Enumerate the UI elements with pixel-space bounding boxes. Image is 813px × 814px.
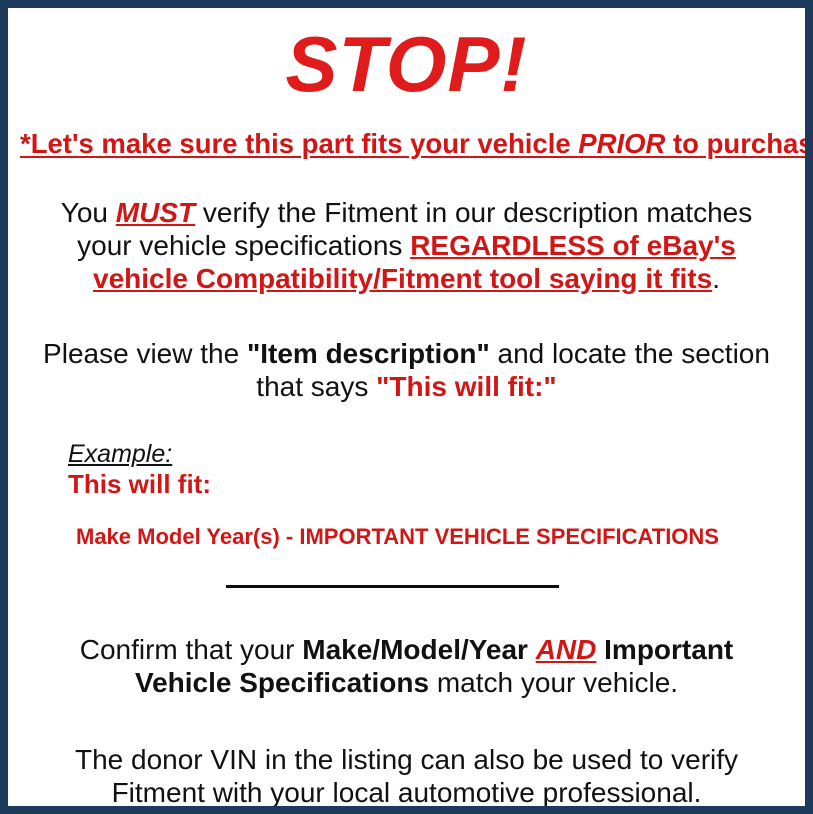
confirm-text-2: match your vehicle. (429, 667, 678, 698)
tagline-before: *Let's make sure this part fits your veh… (20, 128, 578, 159)
section-divider (226, 585, 559, 588)
confirm-text-1: Confirm that your (80, 634, 303, 665)
must-text-1: You (61, 197, 116, 228)
example-label: Example: (68, 441, 172, 469)
fitment-notice-card: STOP! *Let's make sure this part fits yo… (0, 0, 813, 814)
must-text-3: . (712, 263, 720, 294)
example-block: Example: This will fit: Make Model Year(… (20, 441, 793, 550)
example-label-row: Example: (68, 441, 793, 469)
item-description-emphasis: "Item description" (247, 338, 490, 369)
confirm-paragraph: Confirm that your Make/Model/Year AND Im… (20, 633, 793, 699)
tagline-emphasis: PRIOR (578, 128, 665, 159)
make-model-year-emphasis: Make/Model/Year (302, 634, 528, 665)
must-paragraph: You MUST verify the Fitment in our descr… (20, 196, 793, 295)
tagline: *Let's make sure this part fits your veh… (20, 128, 793, 160)
tagline-after: to purchasing* (665, 128, 813, 159)
must-emphasis: MUST (116, 197, 195, 228)
view-paragraph: Please view the "Item description" and l… (20, 337, 793, 403)
and-emphasis: AND (536, 634, 597, 665)
example-spec-line: Make Model Year(s) - IMPORTANT VEHICLE S… (68, 524, 793, 549)
vin-paragraph: The donor VIN in the listing can also be… (20, 743, 793, 809)
notice-content: STOP! *Let's make sure this part fits yo… (8, 8, 805, 806)
view-text-1: Please view the (43, 338, 247, 369)
this-will-fit-emphasis: "This will fit:" (376, 371, 557, 402)
stop-title: STOP! (20, 24, 793, 106)
example-fit-heading: This will fit: (68, 470, 793, 500)
divider-wrap (20, 575, 793, 593)
